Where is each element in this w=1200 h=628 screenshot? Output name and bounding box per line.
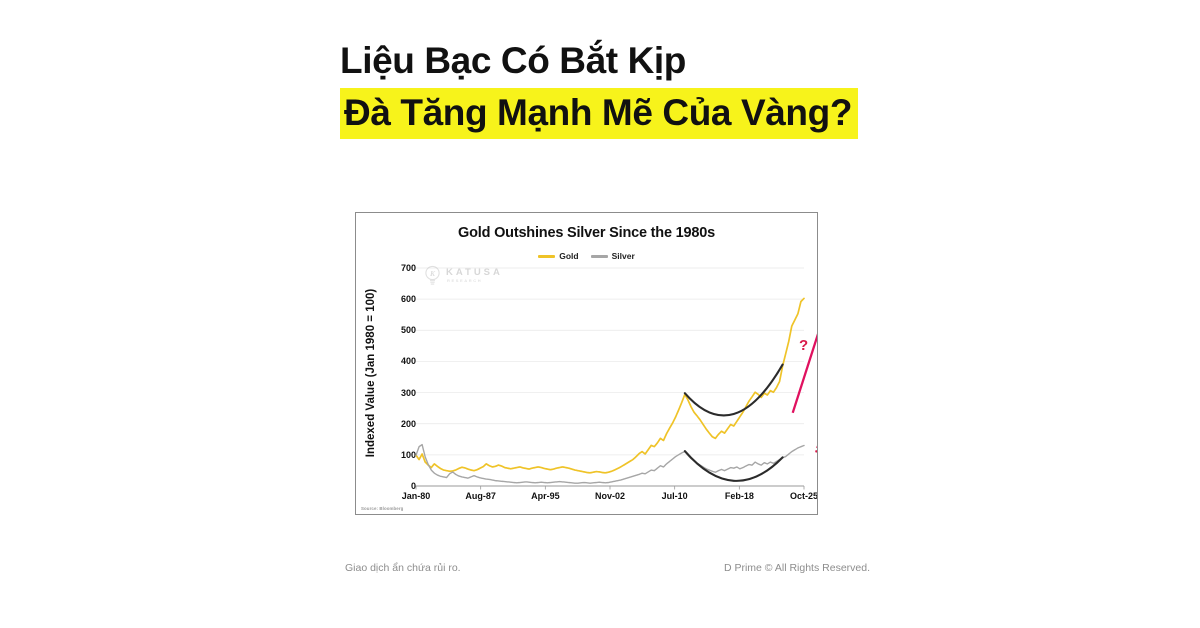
watermark-name: KATUSA bbox=[446, 268, 503, 278]
svg-text:K: K bbox=[429, 269, 436, 278]
projection-arrow-silver bbox=[816, 373, 818, 452]
chart-card: Gold Outshines Silver Since the 1980s Go… bbox=[355, 212, 818, 515]
watermark-text: KATUSA RESEARCH bbox=[446, 268, 503, 284]
series-line-silver bbox=[416, 445, 804, 484]
chart-source-note: Source: Bloomberg bbox=[361, 506, 403, 511]
katusa-watermark: K KATUSA RESEARCH bbox=[424, 265, 503, 286]
chart-plot-svg bbox=[356, 213, 818, 515]
watermark-subtitle: RESEARCH bbox=[447, 279, 503, 283]
cup-arc-gold bbox=[685, 365, 783, 416]
series-line-gold bbox=[416, 298, 804, 472]
headline-block: Liệu Bạc Có Bắt Kịp Đà Tăng Mạnh Mẽ Của … bbox=[340, 40, 900, 139]
footer-copyright: D Prime © All Rights Reserved. bbox=[724, 562, 870, 574]
projection-arrow-gold bbox=[793, 306, 818, 413]
lightbulb-icon: K bbox=[424, 265, 441, 286]
question-mark-annotation: ? bbox=[799, 338, 808, 353]
headline-line-2: Đà Tăng Mạnh Mẽ Của Vàng? bbox=[340, 88, 858, 139]
headline-highlight-wrapper: Đà Tăng Mạnh Mẽ Của Vàng? bbox=[340, 88, 900, 139]
headline-line-1: Liệu Bạc Có Bắt Kịp bbox=[340, 40, 900, 83]
plot-area: Indexed Value (Jan 1980 = 100) 010020030… bbox=[356, 213, 817, 514]
cup-arc-silver bbox=[685, 451, 783, 481]
footer-disclaimer: Giao dịch ẩn chứa rủi ro. bbox=[345, 562, 461, 574]
chart-gridlines bbox=[416, 268, 804, 490]
